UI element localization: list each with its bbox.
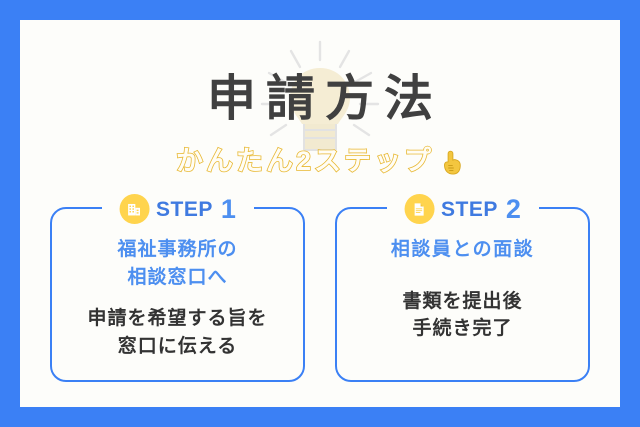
title-block: 申請方法 かんたん2ステップ	[20, 20, 620, 185]
document-page-icon	[404, 194, 434, 224]
step-card-1-heading: 福祉事務所の 相談窓口へ	[50, 236, 305, 291]
step-card-1-body: 福祉事務所の 相談窓口へ 申請を希望する旨を 窓口に伝える	[50, 236, 305, 360]
step-card-2-header: STEP 2	[404, 192, 521, 226]
page-subtitle: かんたん2ステップ	[176, 148, 434, 175]
step-card-2-heading: 相談員との面談	[335, 236, 590, 264]
step-card-1-text-line-2: 窓口に伝える	[50, 333, 305, 361]
step-card-2-body: 相談員との面談 書類を提出後 手続き完了	[335, 236, 590, 343]
step-card-2-heading-line-1: 相談員との面談	[335, 236, 590, 264]
outer-blue-frame: 申請方法 かんたん2ステップ	[0, 0, 640, 427]
step-label-1: STEP	[156, 199, 213, 220]
step-card-2-text-line-1: 書類を提出後	[335, 288, 590, 316]
content-panel: 申請方法 かんたん2ステップ	[20, 20, 620, 407]
office-building-icon	[119, 194, 149, 224]
step-card-2-text: 書類を提出後 手続き完了	[335, 288, 590, 343]
step-card-1-header: STEP 1	[119, 192, 236, 226]
step-card-1-heading-line-1: 福祉事務所の	[50, 236, 305, 264]
step-card-1[interactable]: STEP 1 福祉事務所の 相談窓口へ 申請を希望する旨を 窓口に伝える	[50, 192, 305, 382]
step-card-2[interactable]: STEP 2 相談員との面談 書類を提出後 手続き完了	[335, 192, 590, 382]
page-title: 申請方法	[20, 75, 620, 124]
steps-container: STEP 1 福祉事務所の 相談窓口へ 申請を希望する旨を 窓口に伝える	[20, 192, 620, 382]
pointing-up-hand-icon	[440, 149, 464, 175]
step-number-1: 1	[221, 196, 236, 223]
step-label-2: STEP	[441, 199, 498, 220]
step-card-1-text: 申請を希望する旨を 窓口に伝える	[50, 305, 305, 360]
step-card-2-text-line-2: 手続き完了	[335, 315, 590, 343]
step-number-2: 2	[506, 196, 521, 223]
step-card-1-text-line-1: 申請を希望する旨を	[50, 305, 305, 333]
subtitle-row: かんたん2ステップ	[20, 148, 620, 175]
step-card-1-heading-line-2: 相談窓口へ	[50, 264, 305, 292]
